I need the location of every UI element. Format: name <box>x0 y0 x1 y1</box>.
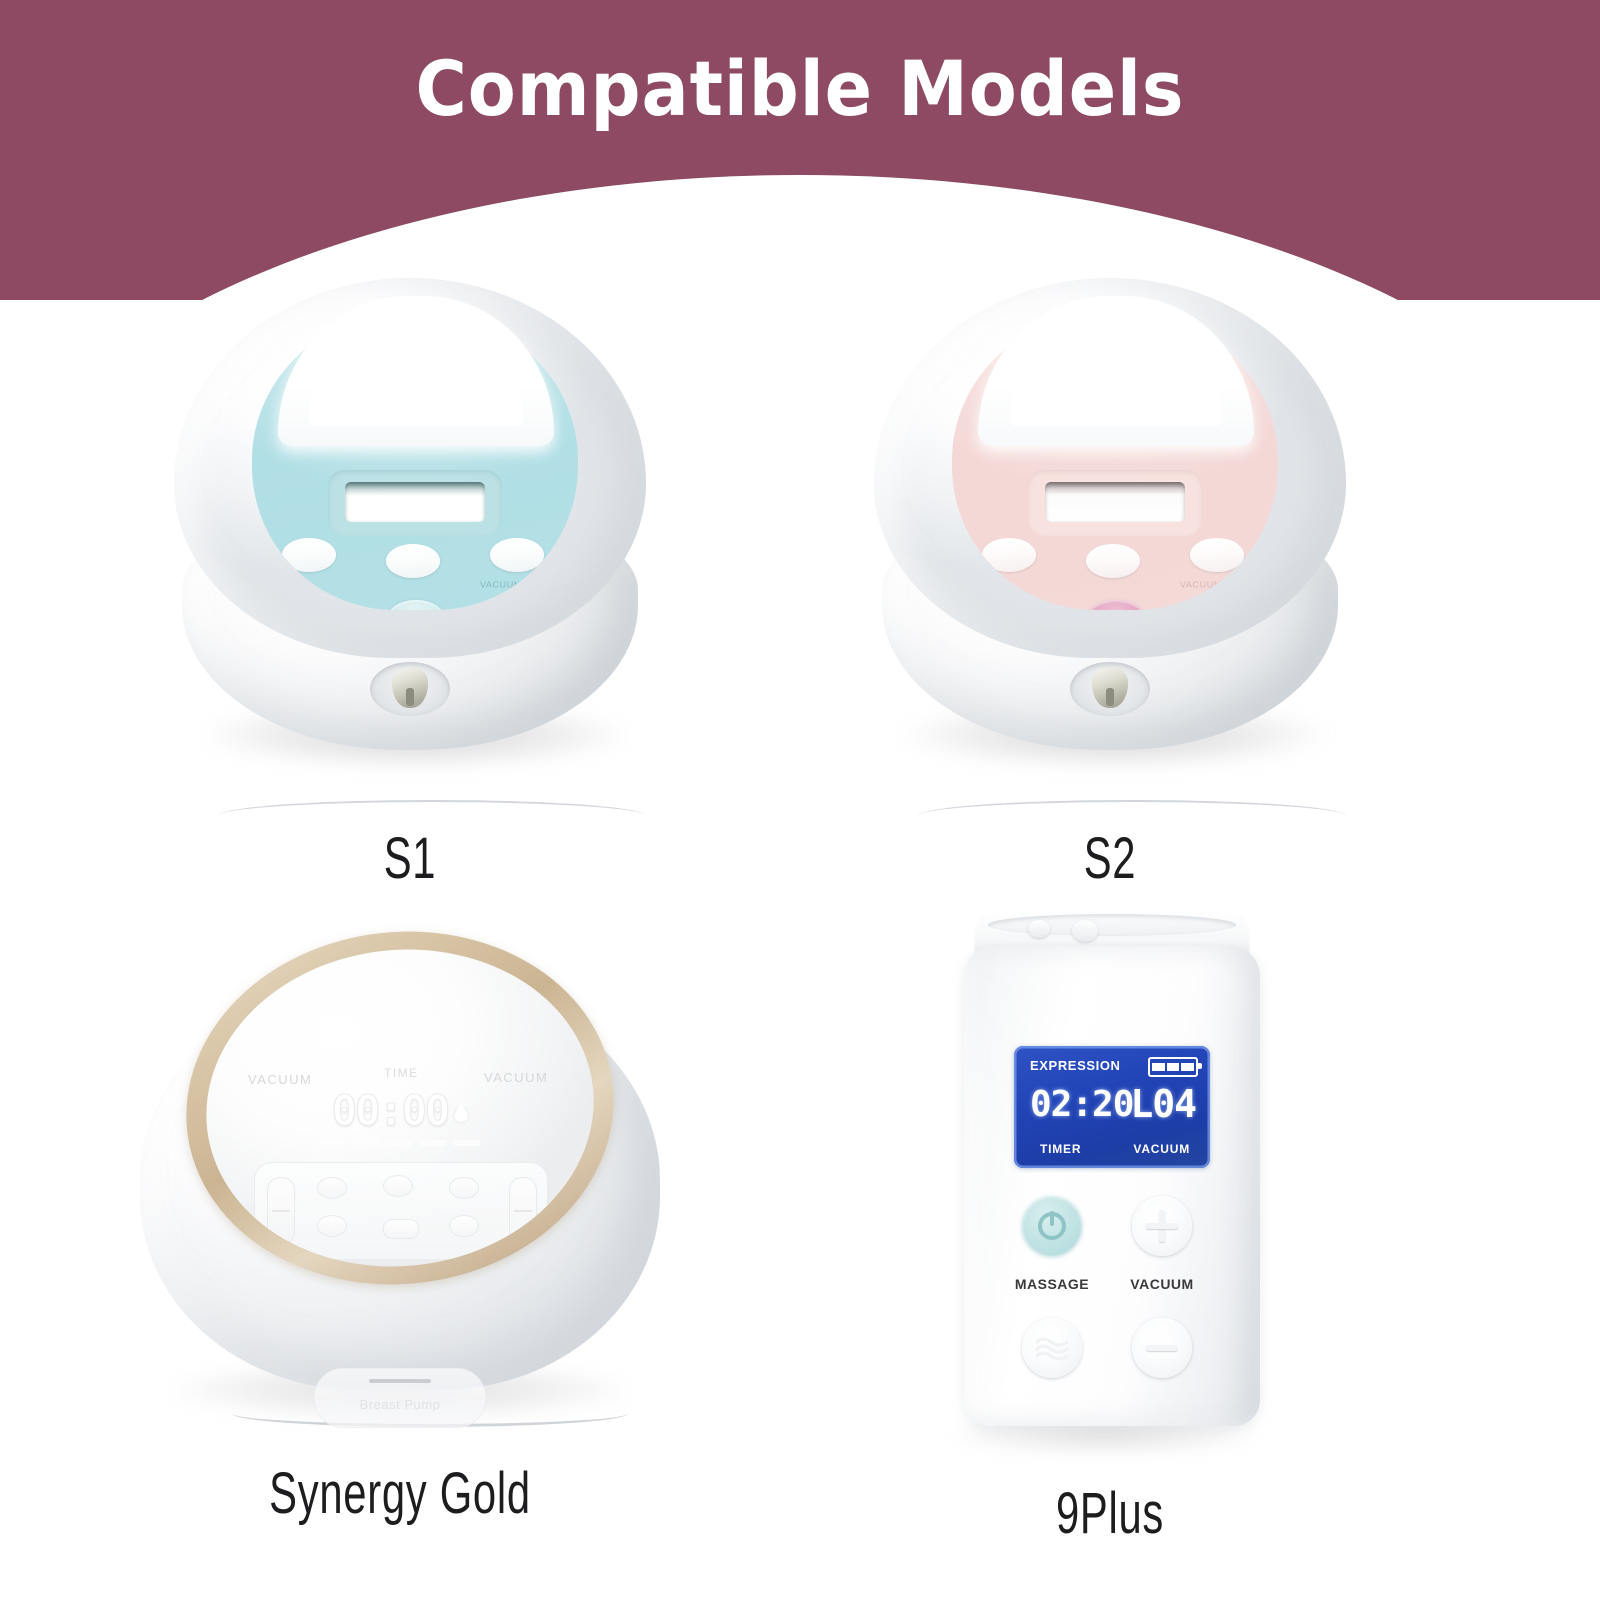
massage-dial-button[interactable] <box>1242 566 1278 608</box>
battery-bar <box>1152 1063 1165 1071</box>
product-image-s2: ⏻ CYCLE VACUUM <box>860 270 1360 810</box>
cycle-down-button[interactable] <box>982 600 1036 610</box>
model-card-9plus: EXPRESSION 02:20 L04 TIMER VACUUM <box>830 890 1390 1600</box>
product-image-9plus: EXPRESSION 02:20 L04 TIMER VACUUM <box>930 910 1290 1470</box>
model-label-s1: S1 <box>187 825 633 892</box>
timer-button[interactable] <box>317 1177 347 1199</box>
vacuum-down-button[interactable] <box>1190 600 1244 610</box>
power-icon <box>1038 1212 1066 1240</box>
page-title: Compatible Models <box>64 44 1536 133</box>
vacuum-rocker-button[interactable] <box>509 1177 537 1245</box>
model-card-synergy-gold: Breast Pump VACUUM TIME VACUUM 00:00 <box>70 900 730 1600</box>
product-image-synergy-gold: Breast Pump VACUUM TIME VACUUM 00:00 <box>110 910 690 1450</box>
mode-button[interactable] <box>386 544 440 578</box>
vacuum-label: VACUUM <box>1180 581 1222 590</box>
device-body: EXPRESSION 02:20 L04 TIMER VACUUM <box>964 946 1260 1426</box>
mode-button[interactable] <box>1086 544 1140 578</box>
model-label-s2: S2 <box>887 825 1333 892</box>
time-value: 00:00 <box>332 1086 448 1135</box>
power-button[interactable] <box>383 1219 419 1239</box>
touch-button-panel <box>254 1162 548 1260</box>
tubing-port <box>370 662 450 716</box>
memory-button[interactable] <box>449 1177 479 1199</box>
carry-handle <box>278 296 554 446</box>
model-card-s2: ⏻ CYCLE VACUUM S2 <box>800 250 1420 930</box>
minus-icon <box>1146 1345 1178 1351</box>
tubing-port-icon <box>1028 920 1050 938</box>
power-button[interactable]: ⏻ <box>386 600 446 610</box>
product-image-s1: ⏻ CYCLE VACUUM <box>160 270 660 810</box>
cycle-up-button[interactable] <box>282 538 336 572</box>
lcd-screen <box>1045 482 1185 522</box>
massage-button[interactable] <box>1022 1318 1082 1378</box>
badge-slot <box>369 1379 431 1383</box>
dial-texture-icon <box>1242 566 1278 608</box>
vacuum-increase-button[interactable] <box>1132 1196 1192 1256</box>
cap-surface <box>988 914 1236 936</box>
plus-icon <box>1146 1210 1178 1242</box>
button-cluster: ⏻ CYCLE VACUUM <box>252 538 578 610</box>
droplet-icon <box>455 1108 468 1122</box>
cycle-label: CYCLE <box>978 581 1011 590</box>
carry-handle <box>978 296 1254 446</box>
vacuum-label: VACUUM <box>480 581 522 590</box>
vacuum-decrease-button[interactable] <box>1132 1318 1192 1378</box>
power-button[interactable] <box>1022 1196 1082 1256</box>
massage-dial-button[interactable] <box>542 566 578 608</box>
lcd-vacuum-label: VACUUM <box>1133 1142 1190 1156</box>
pump-dome: ⏻ CYCLE VACUUM <box>174 278 646 658</box>
massage-label: MASSAGE <box>1008 1276 1096 1292</box>
lcd-recess <box>328 470 502 536</box>
handle-opening <box>1009 330 1223 426</box>
port-connector-icon <box>392 668 428 708</box>
port-connector-icon <box>1092 668 1128 708</box>
display-segment-bar <box>318 1140 482 1146</box>
front-badge: Breast Pump <box>314 1368 486 1428</box>
handle-opening <box>309 330 523 426</box>
vacuum-up-button[interactable] <box>1190 538 1244 572</box>
battery-icon <box>1148 1057 1198 1077</box>
lcd-screen <box>345 482 485 522</box>
battery-bar <box>1181 1063 1194 1071</box>
model-label-9plus: 9Plus <box>908 1480 1311 1547</box>
cycle-mode-button[interactable] <box>383 1175 413 1197</box>
led-display: 00:00 <box>332 1086 468 1135</box>
badge-text: Breast Pump <box>315 1397 485 1412</box>
power-button[interactable]: ⏻ <box>1086 600 1146 610</box>
vacuum-up-button[interactable] <box>490 538 544 572</box>
vacuum-label-left: VACUUM <box>248 1072 312 1087</box>
model-card-s1: ⏻ CYCLE VACUUM S1 <box>100 250 720 930</box>
vacuum-label: VACUUM <box>1122 1276 1202 1292</box>
lcd-vacuum-value: L04 <box>1130 1082 1196 1126</box>
cycle-down-button[interactable] <box>282 600 336 610</box>
cycle-label: CYCLE <box>278 581 311 590</box>
tubing-port-icon <box>1072 920 1098 942</box>
lcd-timer-value: 02:20 <box>1030 1084 1133 1125</box>
time-label: TIME <box>384 1066 419 1080</box>
light-button[interactable] <box>449 1215 479 1237</box>
dial-texture-icon <box>542 566 578 608</box>
cycle-up-button[interactable] <box>982 538 1036 572</box>
lcd-recess <box>1028 470 1202 536</box>
vacuum-down-button[interactable] <box>490 600 544 610</box>
lcd-screen: EXPRESSION 02:20 L04 TIMER VACUUM <box>1014 1046 1210 1168</box>
massage-button[interactable] <box>317 1215 347 1237</box>
pump-dome: ⏻ CYCLE VACUUM <box>874 278 1346 658</box>
lcd-timer-label: TIMER <box>1040 1142 1081 1156</box>
lcd-mode-label: EXPRESSION <box>1030 1058 1121 1073</box>
wave-icon <box>1035 1336 1069 1360</box>
model-label-synergy-gold: Synergy Gold <box>162 1460 637 1527</box>
gold-bezel-ring: VACUUM TIME VACUUM 00:00 <box>169 911 631 1306</box>
button-cluster: ⏻ CYCLE VACUUM <box>952 538 1278 610</box>
battery-bar <box>1167 1063 1180 1071</box>
pump-control-face: VACUUM TIME VACUUM 00:00 <box>191 931 610 1286</box>
tubing-port <box>1070 662 1150 716</box>
cycle-rocker-button[interactable] <box>267 1177 295 1245</box>
vacuum-label-right: VACUUM <box>484 1070 548 1085</box>
